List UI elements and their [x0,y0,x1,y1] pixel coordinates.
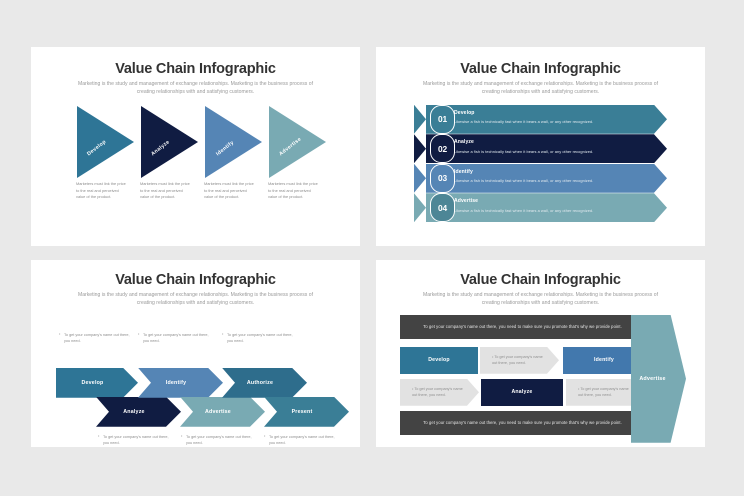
dark-bar-bottom[interactable]: To get your company's name out there, yo… [400,411,645,435]
arrow-authorize[interactable]: Authorize [222,368,307,398]
page-subtitle: Marketing is the study and management of… [416,81,666,97]
triangle-desc-analyze: Marketers must link the price to the rea… [140,181,192,201]
infographic-card-blocks-chevron[interactable]: Value Chain Infographic Marketing is the… [376,260,705,447]
dark-bar-top[interactable]: To get your company's name out there, yo… [400,315,645,339]
dark-bar-top-text: To get your company's name out there, yo… [423,324,622,329]
step-number-01: 01 [438,114,447,124]
page-subtitle: Marketing is the study and management of… [416,292,666,308]
arrow-present[interactable]: Present [264,397,349,427]
banner-heading-04: Advertise [454,198,685,204]
arrow-label-authorize: Authorize [222,380,307,386]
step-number-pill-04: 04 [430,193,455,222]
block-develop[interactable]: Develop [400,347,478,374]
triangle-desc-advertise: Marketers must link the price to the rea… [268,181,320,201]
triangle-desc-identify: Marketers must link the price to the rea… [204,181,256,201]
zigzag-note-bottom-2: To get your company's name out there, yo… [186,434,252,447]
grey-chevron-2[interactable]: To get your company's name out there, yo… [400,379,479,406]
arrow-develop[interactable]: Develop [56,368,138,398]
infographic-card-triangles[interactable]: Value Chain Infographic Marketing is the… [31,47,360,246]
banner-text-02: Analyze Likewise a fish is technically f… [454,139,685,154]
block-analyze[interactable]: Analyze [481,379,563,406]
big-chevron-advertise[interactable]: Advertise [631,315,686,443]
banner-heading-03: Identify [454,169,685,175]
arrow-label-identify: Identify [138,380,223,386]
arrow-label-analyze: Analyze [96,409,181,415]
grey-chevron-1-text: To get your company's name out there, yo… [480,354,559,367]
page-subtitle: Marketing is the study and management of… [71,81,321,97]
banner-row-04[interactable]: 04 Advertise Likewise a fish is technica… [376,193,705,222]
page-title: Value Chain Infographic [31,61,360,77]
banner-row-01[interactable]: 01 Develop Likewise a fish is technicall… [376,105,705,134]
step-number-pill-02: 02 [430,134,455,163]
arrow-analyze[interactable]: Analyze [96,397,181,427]
step-number-03: 03 [438,173,447,183]
page-subtitle: Marketing is the study and management of… [71,292,321,308]
page-title: Value Chain Infographic [376,61,705,77]
arrow-advertise[interactable]: Advertise [180,397,265,427]
block-label-develop: Develop [428,357,450,363]
arrow-identify[interactable]: Identify [138,368,223,398]
infographic-card-numbered-banners[interactable]: Value Chain Infographic Marketing is the… [376,47,705,246]
grey-chevron-1[interactable]: To get your company's name out there, yo… [480,347,559,374]
banner-body-02: Likewise a fish is technically fast when… [454,149,685,154]
banner-heading-02: Analyze [454,139,685,145]
dark-bar-bottom-text: To get your company's name out there, yo… [423,420,622,425]
zigzag-note-top-2: To get your company's name out there, yo… [143,332,209,345]
block-label-identify: Identify [594,357,614,363]
arrow-label-advertise: Advertise [180,409,265,415]
step-number-04: 04 [438,203,447,213]
block-group: To get your company's name out there, yo… [376,315,705,443]
infographic-card-zigzag-arrows[interactable]: Value Chain Infographic Marketing is the… [31,260,360,447]
banner-text-01: Develop Likewise a fish is technically f… [454,110,685,125]
banner-heading-01: Develop [454,110,685,116]
banner-row-03[interactable]: 03 Identify Likewise a fish is technical… [376,164,705,193]
page-title: Value Chain Infographic [31,272,360,288]
triangle-row: Develop Analyze Identify Advertise [31,106,360,178]
zigzag-note-bottom-3: To get your company's name out there, yo… [269,434,335,447]
block-label-analyze: Analyze [511,389,532,395]
arrow-label-present: Present [264,409,349,415]
slide-grid: Value Chain Infographic Marketing is the… [0,0,744,496]
zigzag-note-top-3: To get your company's name out there, yo… [227,332,293,345]
step-number-pill-01: 01 [430,105,455,134]
step-number-02: 02 [438,144,447,154]
banner-body-03: Likewise a fish is technically fast when… [454,178,685,183]
grey-chevron-2-text: To get your company's name out there, yo… [400,386,479,399]
triangle-desc-develop: Marketers must link the price to the rea… [76,181,128,201]
triangle-descriptions: Marketers must link the price to the rea… [31,181,360,223]
banner-body-01: Likewise a fish is technically fast when… [454,119,685,124]
big-chevron-label: Advertise [631,376,686,382]
step-number-pill-03: 03 [430,164,455,193]
arrow-label-develop: Develop [56,380,138,386]
banner-row-02[interactable]: 02 Analyze Likewise a fish is technicall… [376,134,705,163]
zigzag-note-top-1: To get your company's name out there, yo… [64,332,130,345]
banner-list: 01 Develop Likewise a fish is technicall… [376,105,705,223]
banner-text-04: Advertise Likewise a fish is technically… [454,198,685,213]
banner-text-03: Identify Likewise a fish is technically … [454,169,685,184]
banner-body-04: Likewise a fish is technically fast when… [454,208,685,213]
page-title: Value Chain Infographic [376,272,705,288]
zigzag-note-bottom-1: To get your company's name out there, yo… [103,434,169,447]
zigzag-arrow-group: To get your company's name out there, yo… [31,314,360,447]
